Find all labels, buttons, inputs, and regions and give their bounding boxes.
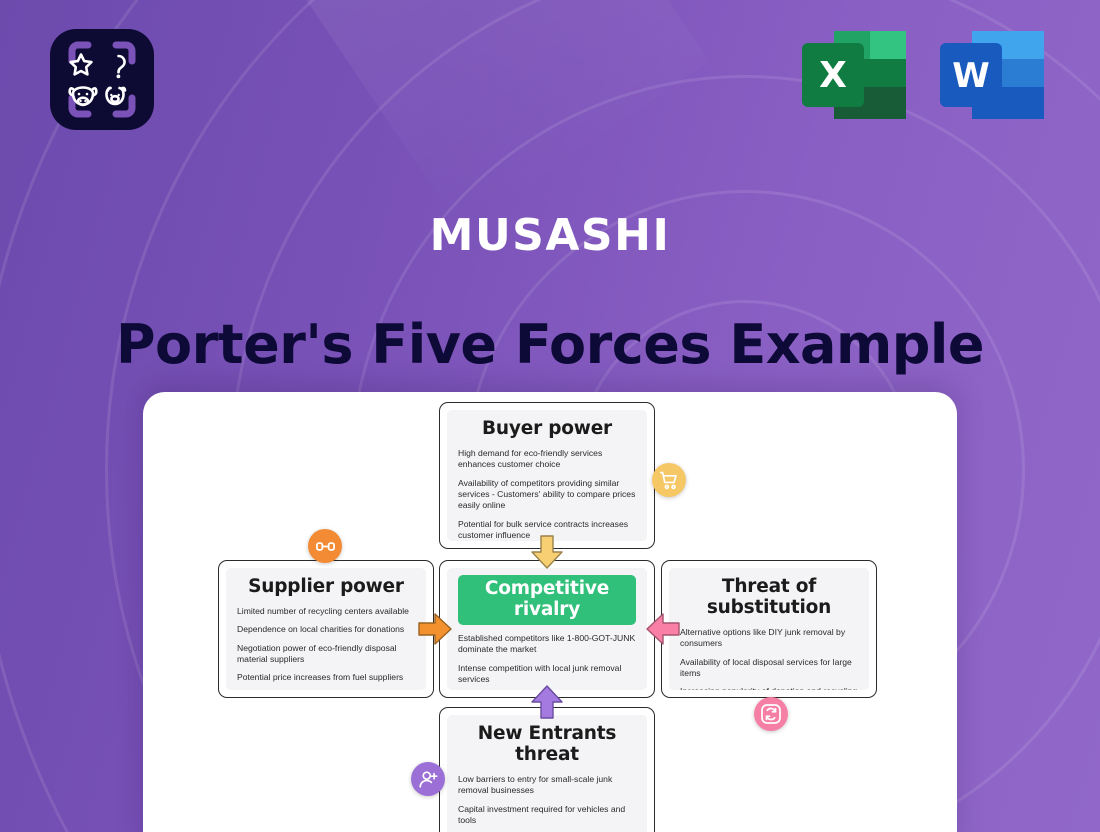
- list-item: Increasing popularity of donation and re…: [680, 686, 858, 690]
- arrow-substitution-to-rivalry-icon: [646, 613, 680, 645]
- link-dumbbell-icon: [315, 536, 336, 557]
- force-points-supplier: Limited number of recycling centers avai…: [237, 606, 415, 690]
- arrow-supplier-to-rivalry-icon: [418, 613, 452, 645]
- list-item: Availability of competitors providing si…: [458, 478, 636, 512]
- musashi-logo: [48, 27, 156, 132]
- force-box-competitive-rivalry[interactable]: Competitive rivalry Established competit…: [439, 560, 655, 698]
- add-user-icon: [418, 769, 439, 790]
- list-item: Alternative options like DIY junk remova…: [680, 627, 858, 650]
- list-item: Low barriers to entry for small-scale ju…: [458, 774, 636, 797]
- list-item: Limited number of recycling centers avai…: [237, 606, 415, 617]
- word-icon[interactable]: W: [940, 27, 1044, 123]
- force-title-entrants: New Entrants threat: [458, 723, 636, 765]
- force-points-substitution: Alternative options like DIY junk remova…: [680, 627, 858, 690]
- list-item: High demand for eco-friendly services en…: [458, 448, 636, 471]
- excel-icon[interactable]: X: [802, 27, 906, 123]
- force-points-buyer: High demand for eco-friendly services en…: [458, 448, 636, 541]
- force-box-new-entrants-threat[interactable]: New Entrants threat Low barriers to entr…: [439, 707, 655, 832]
- badge-new-entrants-threat[interactable]: [411, 762, 445, 796]
- list-item: Availability of local disposal services …: [680, 657, 858, 680]
- force-title-supplier: Supplier power: [237, 576, 415, 597]
- office-icon-group: X W: [802, 27, 1044, 123]
- force-box-threat-of-substitution[interactable]: Threat of substitution Alternative optio…: [661, 560, 877, 698]
- shopping-cart-icon: [659, 470, 680, 491]
- slide-canvas: X W MUSASHI Porter's Five Forces Example…: [0, 0, 1100, 832]
- list-item: Negotiation power of eco-friendly dispos…: [237, 643, 415, 666]
- list-item: Capital investment required for vehicles…: [458, 804, 636, 827]
- force-title-buyer: Buyer power: [458, 418, 636, 439]
- five-forces-diagram: Buyer power High demand for eco-friendly…: [143, 392, 957, 832]
- svg-text:X: X: [819, 55, 847, 96]
- list-item: Established competitors like 1-800-GOT-J…: [458, 633, 636, 656]
- brand-name: MUSASHI: [0, 210, 1100, 261]
- arrow-entrants-to-rivalry-icon: [531, 685, 563, 719]
- page-title: Porter's Five Forces Example: [0, 313, 1100, 376]
- list-item: Dependence on local charities for donati…: [237, 624, 415, 635]
- force-points-entrants: Low barriers to entry for small-scale ju…: [458, 774, 636, 832]
- force-box-supplier-power[interactable]: Supplier power Limited number of recycli…: [218, 560, 434, 698]
- list-item: Potential price increases from fuel supp…: [237, 672, 415, 683]
- refresh-sync-icon: [760, 703, 782, 725]
- svg-text:W: W: [952, 56, 990, 96]
- arrow-buyer-to-rivalry-icon: [531, 535, 563, 569]
- force-box-buyer-power[interactable]: Buyer power High demand for eco-friendly…: [439, 402, 655, 549]
- logo-icon: [48, 27, 156, 132]
- force-title-substitution: Threat of substitution: [680, 576, 858, 618]
- force-points-rivalry: Established competitors like 1-800-GOT-J…: [458, 633, 636, 690]
- badge-supplier-power[interactable]: [308, 529, 342, 563]
- badge-buyer-power[interactable]: [652, 463, 686, 497]
- force-title-rivalry: Competitive rivalry: [458, 575, 636, 625]
- diagram-card: Buyer power High demand for eco-friendly…: [143, 392, 957, 832]
- list-item: Intense competition with local junk remo…: [458, 663, 636, 686]
- badge-threat-of-substitution[interactable]: [754, 697, 788, 731]
